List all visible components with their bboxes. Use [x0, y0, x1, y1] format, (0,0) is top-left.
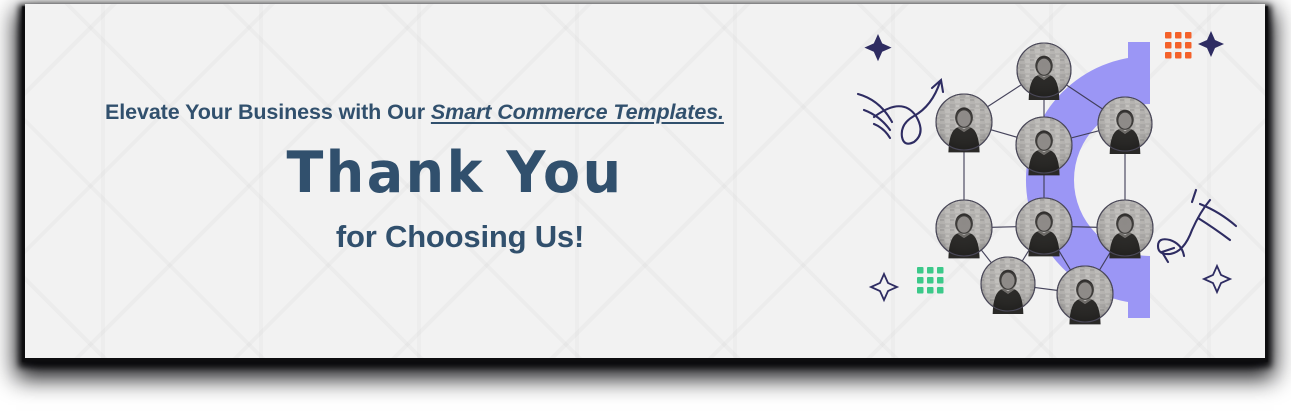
- doodle-arrow-lower-right: [1158, 190, 1236, 262]
- sparkle-icon-bottom-left: [871, 274, 897, 300]
- green-dot-grid-icon: [917, 267, 944, 294]
- page-subtitle: for Choosing Us!: [25, 219, 895, 255]
- avatar-team-member-2: [936, 94, 992, 152]
- doodle-arrow-upper-left: [858, 80, 943, 144]
- banner-text-block: Elevate Your Business with Our Smart Com…: [25, 4, 845, 358]
- avatar-team-member-5: [936, 200, 992, 258]
- page-title: Thank You: [25, 142, 885, 203]
- avatar-team-member-9: [1057, 266, 1113, 324]
- banner-stage: Elevate Your Business with Our Smart Com…: [0, 0, 1291, 414]
- headline-prefix: Elevate Your Business with Our: [105, 100, 431, 124]
- thank-you-banner-card: Elevate Your Business with Our Smart Com…: [25, 4, 1265, 358]
- avatar-team-member-8: [981, 257, 1035, 314]
- orange-dot-grid-icon: [1165, 32, 1192, 59]
- avatar-team-member-3: [1098, 97, 1152, 154]
- sparkle-icon-top-left: [864, 34, 891, 61]
- sparkle-icon-top-right: [1198, 31, 1224, 57]
- avatar-team-member-1: [1017, 43, 1071, 100]
- headline: Elevate Your Business with Our Smart Com…: [105, 100, 805, 125]
- team-network-graphic: [840, 4, 1265, 358]
- sparkle-icon-bottom-right: [1204, 266, 1230, 292]
- headline-emphasis: Smart Commerce Templates.: [431, 100, 724, 124]
